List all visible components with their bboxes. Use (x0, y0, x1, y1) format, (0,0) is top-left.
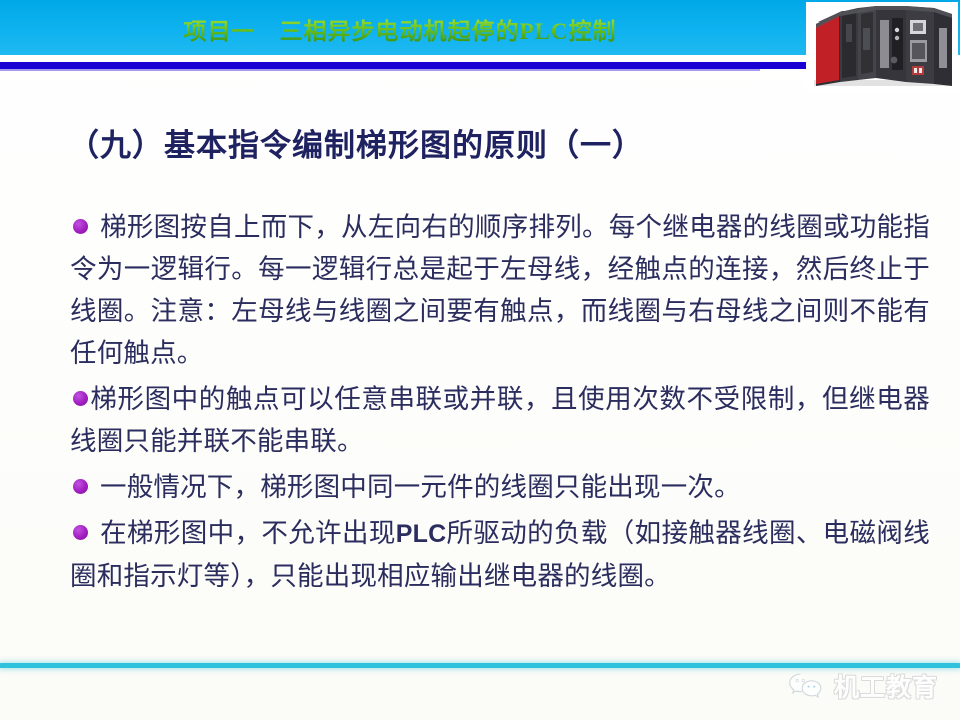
header-divider-tail (0, 69, 760, 71)
plc-hardware-photo (806, 2, 958, 94)
bullet-item-4: 在梯形图中，不允许出现PLC所驱动的负载（如接触器线圈、电磁阀线圈和指示灯等），… (70, 512, 930, 597)
bullet-body-3: 一般情况下，梯形图中同一元件的线圈只能出现一次。 (100, 472, 741, 502)
bullet-dot-icon (73, 391, 88, 406)
footer-brand: 机工教育 (786, 668, 938, 704)
header-title: 项目一 三相异步电动机起停的PLC控制 (0, 12, 800, 46)
wechat-icon (786, 670, 826, 702)
page-title: （九）基本指令编制梯形图的原则（一） (68, 120, 644, 165)
slide-canvas: 项目一 三相异步电动机起停的PLC控制 (0, 0, 960, 720)
bullet-text-1: 梯形图按自上而下，从左向右的顺序排列。每个继电器的线圈或功能指令为一逻辑行。每一… (70, 206, 930, 374)
bullet-body-4-emphasis: PLC (396, 520, 447, 548)
bullet-item-3: 一般情况下，梯形图中同一元件的线圈只能出现一次。 (70, 466, 930, 508)
bullet-item-2: 梯形图中的触点可以任意串联或并联，且使用次数不受限制，但继电器线圈只能并联不能串… (70, 378, 930, 462)
bullet-body-1: 梯形图按自上而下，从左向右的顺序排列。每个继电器的线圈或功能指令为一逻辑行。每一… (70, 212, 930, 368)
bullet-text-4: 在梯形图中，不允许出现PLC所驱动的负载（如接触器线圈、电磁阀线圈和指示灯等），… (70, 512, 930, 597)
bullet-body-4-pre: 在梯形图中，不允许出现 (100, 518, 396, 548)
bullet-dot-icon (73, 219, 88, 234)
bullet-item-1: 梯形图按自上而下，从左向右的顺序排列。每个继电器的线圈或功能指令为一逻辑行。每一… (70, 206, 930, 374)
header-divider-bar (0, 62, 920, 69)
bullet-dot-icon (73, 479, 88, 494)
body-copy: 梯形图按自上而下，从左向右的顺序排列。每个继电器的线圈或功能指令为一逻辑行。每一… (70, 206, 930, 601)
plc-photo-graphic (806, 2, 958, 94)
bullet-body-2: 梯形图中的触点可以任意串联或并联，且使用次数不受限制，但继电器线圈只能并联不能串… (70, 384, 930, 456)
bullet-text-2: 梯形图中的触点可以任意串联或并联，且使用次数不受限制，但继电器线圈只能并联不能串… (70, 378, 930, 462)
bullet-dot-icon (73, 525, 88, 540)
footer-brand-label: 机工教育 (834, 668, 938, 704)
bullet-text-3: 一般情况下，梯形图中同一元件的线圈只能出现一次。 (70, 466, 930, 508)
